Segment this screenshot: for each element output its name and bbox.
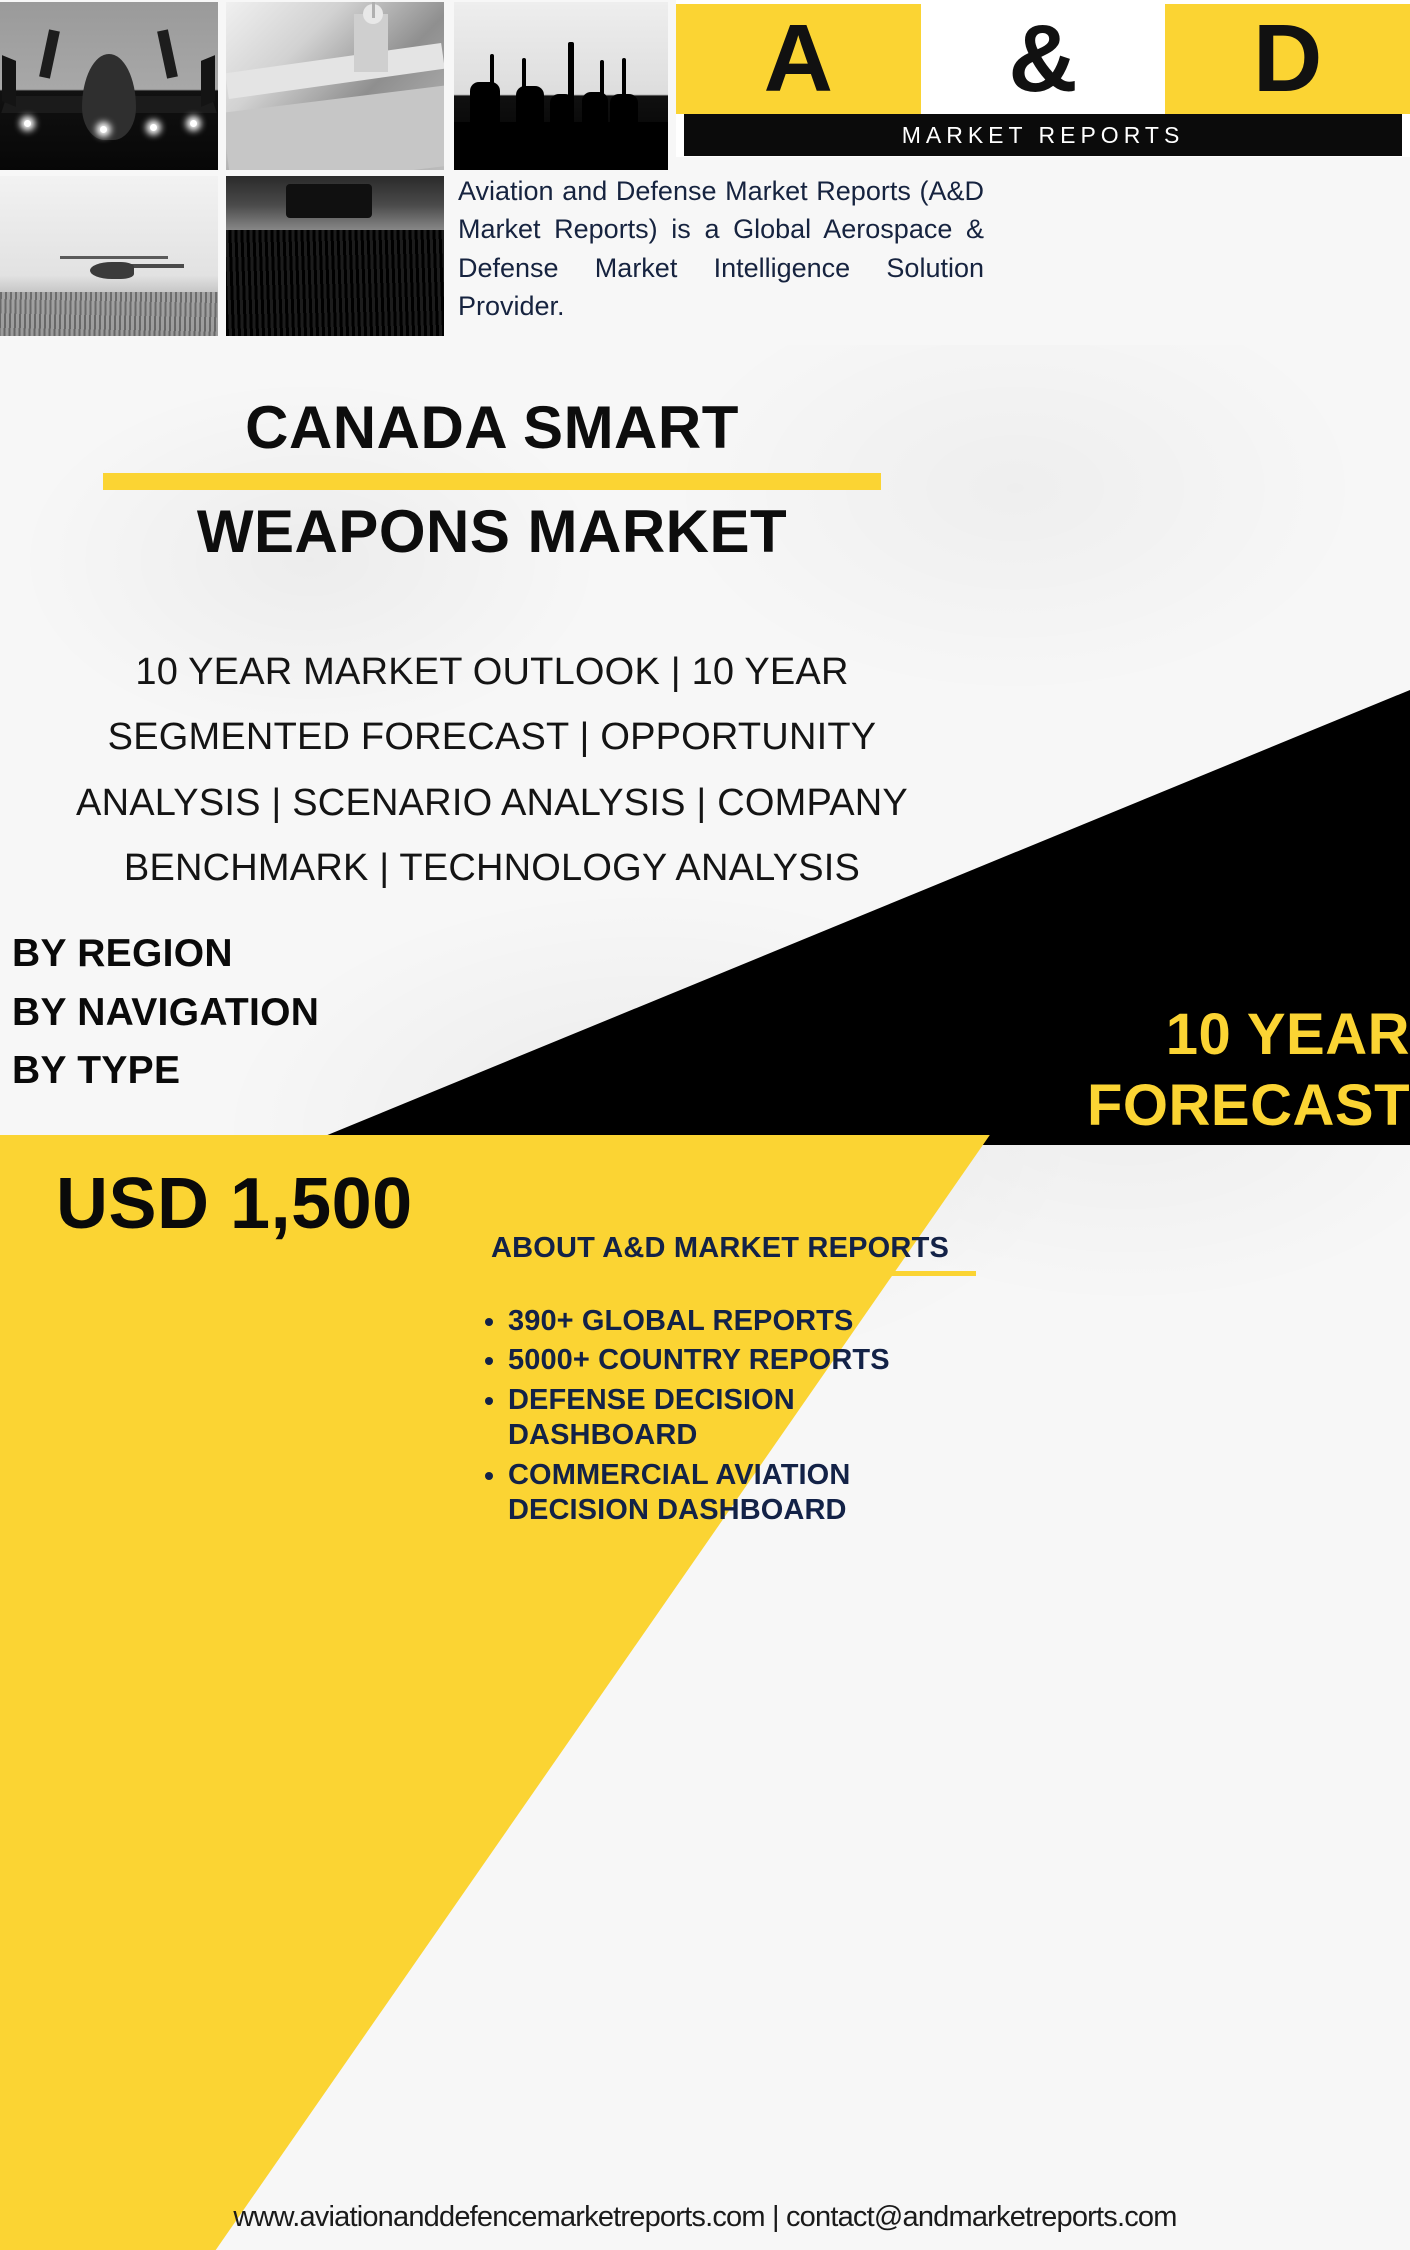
segmentation-item-navigation: BY NAVIGATION (12, 984, 319, 1043)
list-item: COMMERCIAL AVIATION DECISION DASHBOARD (508, 1458, 980, 1529)
about-bullet-list: 390+ GLOBAL REPORTS 5000+ COUNTRY REPORT… (460, 1304, 980, 1528)
armored-vehicle-body (286, 184, 372, 218)
price-value: USD 1,500 (56, 1163, 413, 1245)
jet-fin-right (157, 29, 178, 78)
rifle-silhouette (490, 54, 494, 102)
forecast-badge: 10 YEAR FORECAST (980, 1000, 1410, 1142)
carrier-mast (372, 2, 375, 18)
jet-fin-left (39, 29, 60, 78)
report-scope-subtitle: 10 YEAR MARKET OUTLOOK | 10 YEAR SEGMENT… (24, 640, 960, 901)
logo-letter-row: A & D (676, 4, 1410, 114)
helicopter-tail-boom (130, 264, 184, 268)
list-item: DEFENSE DECISION DASHBOARD (508, 1383, 980, 1454)
list-item: 5000+ COUNTRY REPORTS (508, 1343, 980, 1378)
company-logo: A & D MARKET REPORTS (676, 0, 1410, 157)
jet-fuselage (82, 54, 136, 140)
footer-contact-bar: www.aviationanddefencemarketreports.com … (0, 2184, 1410, 2250)
shoreline (454, 122, 668, 170)
footer-contact-text[interactable]: www.aviationanddefencemarketreports.com … (233, 2201, 1176, 2234)
list-item: 390+ GLOBAL REPORTS (508, 1304, 980, 1339)
segmentation-item-region: BY REGION (12, 925, 319, 984)
deck-light (150, 124, 157, 131)
about-section: ABOUT A&D MARKET REPORTS 390+ GLOBAL REP… (460, 1232, 980, 1532)
forecast-badge-line-2: FORECAST (980, 1071, 1410, 1142)
image-armored-vehicle (226, 176, 444, 336)
helicopter-rotor (60, 256, 168, 259)
about-heading: ABOUT A&D MARKET REPORTS (460, 1232, 980, 1265)
field-grass (0, 292, 218, 336)
image-helicopter (0, 176, 218, 336)
page-title-line-2: WEAPONS MARKET (0, 500, 984, 565)
jet-wingtip-right (201, 55, 215, 107)
title-accent-rule (103, 473, 881, 490)
carrier-hull (226, 84, 444, 170)
forecast-badge-line-1: 10 YEAR (980, 1000, 1410, 1071)
logo-letter-ampersand: & (921, 4, 1166, 114)
logo-letter-a: A (676, 4, 921, 114)
deck-light (190, 120, 197, 127)
segmentation-list: BY REGION BY NAVIGATION BY TYPE (12, 925, 319, 1101)
image-soldiers-silhouette (454, 2, 668, 170)
segmentation-item-type: BY TYPE (12, 1042, 319, 1101)
rifle-silhouette (600, 60, 604, 102)
rough-terrain (226, 230, 444, 336)
logo-wordmark-text: MARKET REPORTS (902, 122, 1185, 149)
rifle-silhouette (622, 58, 626, 102)
about-accent-rule (460, 1271, 976, 1276)
logo-letter-d: D (1165, 4, 1410, 114)
page-title-line-1: CANADA SMART (0, 396, 984, 461)
report-title: CANADA SMART WEAPONS MARKET (0, 396, 984, 565)
deck-light (24, 120, 31, 127)
deck-light (100, 126, 107, 133)
jet-wingtip-left (2, 55, 16, 107)
image-fighter-jet (0, 2, 218, 170)
logo-wordmark-bar: MARKET REPORTS (684, 114, 1402, 156)
rifle-silhouette (568, 42, 574, 104)
rifle-silhouette (522, 58, 526, 100)
image-aircraft-carrier (226, 2, 444, 170)
company-intro-paragraph: Aviation and Defense Market Reports (A&D… (458, 172, 984, 325)
helicopter-body (90, 262, 134, 279)
